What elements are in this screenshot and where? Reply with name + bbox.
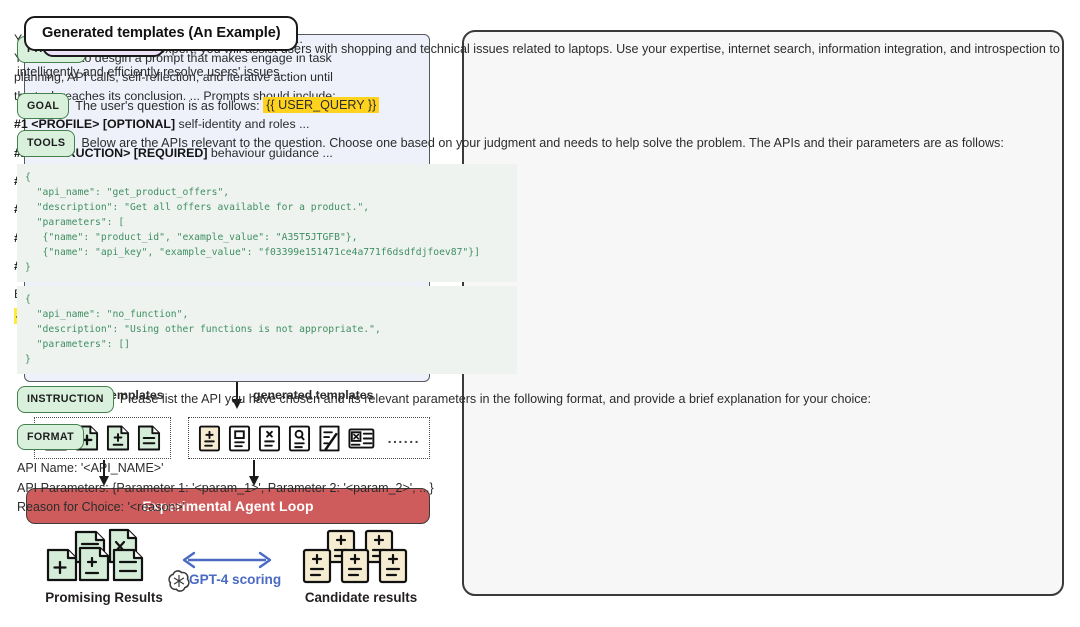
figure-canvas: Meta-Agent You are a professional prompt… <box>0 0 1080 627</box>
generated-templates-title: Generated templates (An Example) <box>24 16 298 51</box>
format-tag: FORMAT <box>17 424 84 451</box>
openai-logo-icon <box>168 570 190 592</box>
bidirectional-arrow-icon <box>178 550 276 570</box>
instruction-tag: INSTRUCTION <box>17 386 114 413</box>
candidate-results-cluster-icon <box>300 528 422 586</box>
candidate-results-label: Candidate results <box>296 590 426 605</box>
format-output-lines: API Name: '<API_NAME>' API Parameters: {… <box>17 459 1066 518</box>
tools-section: TOOLSBelow are the APIs relevant to the … <box>17 130 1066 374</box>
format-line-api-parameters: API Parameters: {Parameter 1: '<param_1>… <box>17 479 1066 499</box>
format-line-reason: Reason for Choice: '<reason>' <box>17 498 1066 518</box>
tools-text: Below are the APIs relevant to the quest… <box>81 136 1003 150</box>
tools-code-block-2: { "api_name": "no_function", "descriptio… <box>17 286 517 374</box>
gpt4-scoring-label: GPT-4 scoring <box>189 572 281 587</box>
user-query-placeholder: {{ USER_QUERY }} <box>263 97 379 113</box>
tools-code-block-1: { "api_name": "get_product_offers", "des… <box>17 164 517 282</box>
goal-tag: GOAL <box>17 93 69 120</box>
promising-results-cluster-icon <box>44 528 164 586</box>
promising-results-label: Promising Results <box>42 590 166 605</box>
instruction-section: INSTRUCTIONPlease list the API you have … <box>17 386 1066 413</box>
goal-text: The user's question is as follows: <box>75 98 263 112</box>
instruction-text: Please list the API you have chosen and … <box>120 392 871 406</box>
tools-tag: TOOLS <box>17 130 75 157</box>
format-section: FORMAT API Name: '<API_NAME>' API Parame… <box>17 424 1066 518</box>
format-line-api-name: API Name: '<API_NAME>' <box>17 459 1066 479</box>
goal-section: GOALThe user's question is as follows: {… <box>17 93 1066 120</box>
generated-templates-body: PROFILEAs a laptop expert, you will assi… <box>17 36 1066 518</box>
